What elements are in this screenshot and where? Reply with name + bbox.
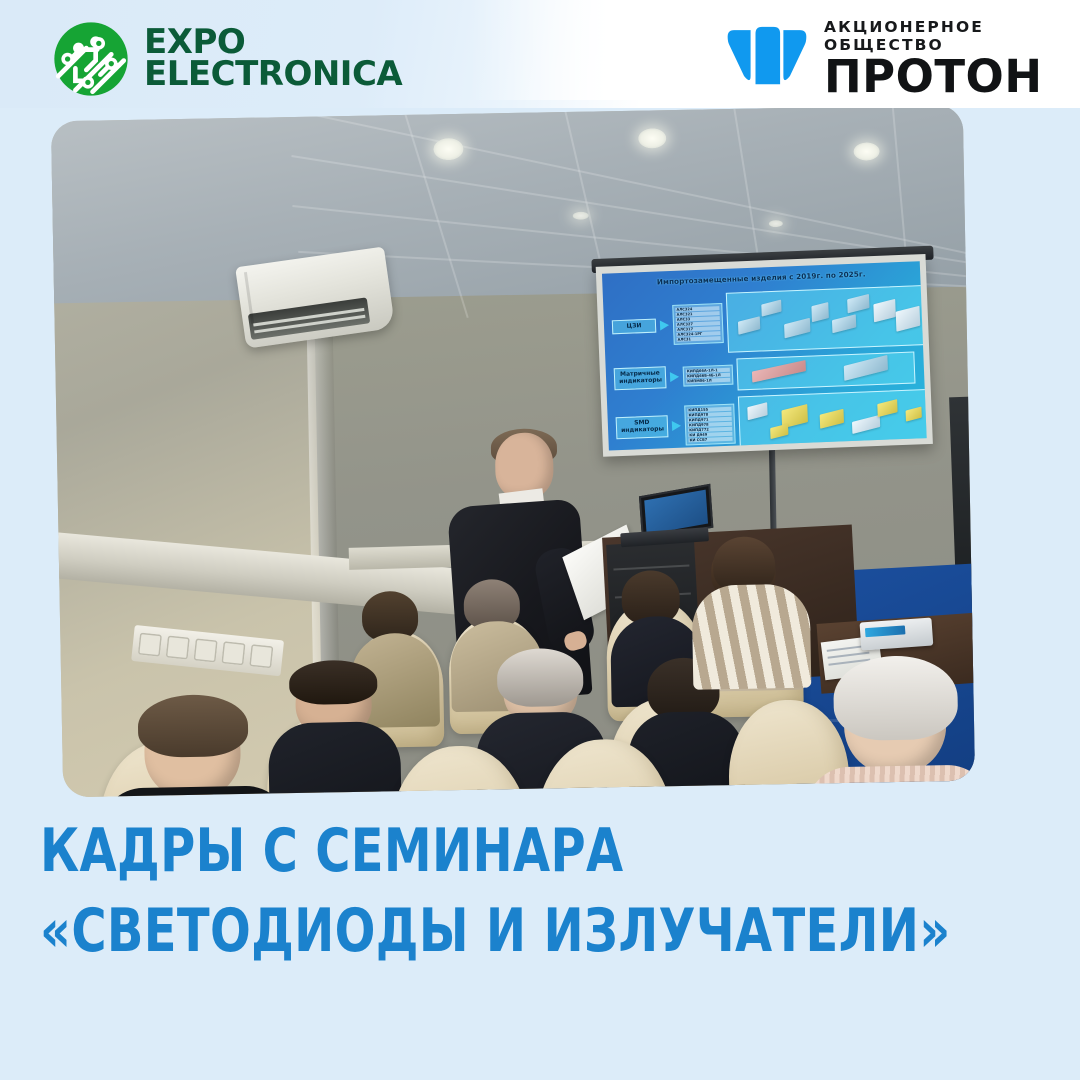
slide-arrow-3-icon xyxy=(672,421,681,431)
caption-line-2: «СВЕТОДИОДЫ И ИЗЛУЧАТЕЛИ» xyxy=(40,892,840,972)
seminar-photo: Импортозамещенные изделия с 2019г. по 20… xyxy=(51,105,975,798)
slide-row-2: Матричные индикаторы КИПД66А-1Л-1 КИПД66… xyxy=(613,351,915,395)
proton-name: ПРОТОН xyxy=(824,56,1080,97)
presentation-slide: Импортозамещенные изделия с 2019г. по 20… xyxy=(602,261,927,450)
slide-arrow-2-icon xyxy=(670,372,679,382)
slide-parts-2 xyxy=(736,351,915,390)
shoulders xyxy=(268,721,402,797)
photo-inner: Импортозамещенные изделия с 2019г. по 20… xyxy=(51,105,975,798)
slide-category-2-label: Матричные индикаторы xyxy=(614,366,667,390)
caption-block: КАДРЫ С СЕМИНАРА «СВЕТОДИОДЫ И ИЗЛУЧАТЕЛ… xyxy=(40,812,1040,972)
speaker-head xyxy=(495,432,554,499)
slide-list-3: КИПД155 КИПД978 КИПД971 КИПД978 КИПД772 … xyxy=(684,404,736,446)
hair xyxy=(289,660,378,706)
slide-parts-3 xyxy=(738,389,927,451)
slide-category-3-label: SMD индикаторы xyxy=(616,415,669,439)
slide-parts-1 xyxy=(726,285,924,353)
hair xyxy=(137,694,248,758)
projection-screen: Импортозамещенные изделия с 2019г. по 20… xyxy=(596,254,933,457)
neck-cord xyxy=(143,792,235,797)
proton-wordmark: АКЦИОНЕРНОЕ ОБЩЕСТВО ПРОТОН xyxy=(824,18,1080,97)
expo-electronica-wordmark: EXPO ELECTRONICA xyxy=(144,27,402,91)
shoulders xyxy=(691,584,811,690)
header-gradient-fade xyxy=(470,0,610,100)
caption-line-1: КАДРЫ С СЕМИНАРА xyxy=(40,812,840,892)
slide-row-3: SMD индикаторы КИПД155 КИПД978 КИПД971 К… xyxy=(615,389,927,451)
proton-trident-mark-icon xyxy=(726,22,808,94)
hair xyxy=(833,655,959,741)
page-header: EXPO ELECTRONICA АКЦИОНЕРНОЕ ОБЩЕСТВО ПР… xyxy=(0,0,1080,108)
expo-electronica-logo: EXPO ELECTRONICA xyxy=(52,20,402,98)
hair xyxy=(497,648,584,708)
proton-logo: АКЦИОНЕРНОЕ ОБЩЕСТВО ПРОТОН xyxy=(726,18,1080,97)
slide-list-1: АЛС324 АЛС321 АЛС33 АЛС327 АЛС317 АЛС324… xyxy=(672,303,724,345)
circuit-circle-icon xyxy=(52,20,130,98)
slide-title: Импортозамещенные изделия с 2019г. по 20… xyxy=(602,267,920,288)
slide-row-1: ЦЗИ АЛС324 АЛС321 АЛС33 АЛС327 АЛС317 АЛ… xyxy=(611,285,924,357)
projector xyxy=(860,617,934,650)
projector-lens-panel xyxy=(865,625,906,637)
slide-arrow-1-icon xyxy=(660,320,669,330)
slide-category-1-label: ЦЗИ xyxy=(612,318,657,335)
slide-list-2: КИПД66А-1Л-1 КИПД66Б-4Б-1Л КИПМ06-1Л xyxy=(683,365,734,387)
proton-subtitle: АКЦИОНЕРНОЕ ОБЩЕСТВО xyxy=(824,18,1080,54)
expo-line-2: ELECTRONICA xyxy=(144,59,402,91)
